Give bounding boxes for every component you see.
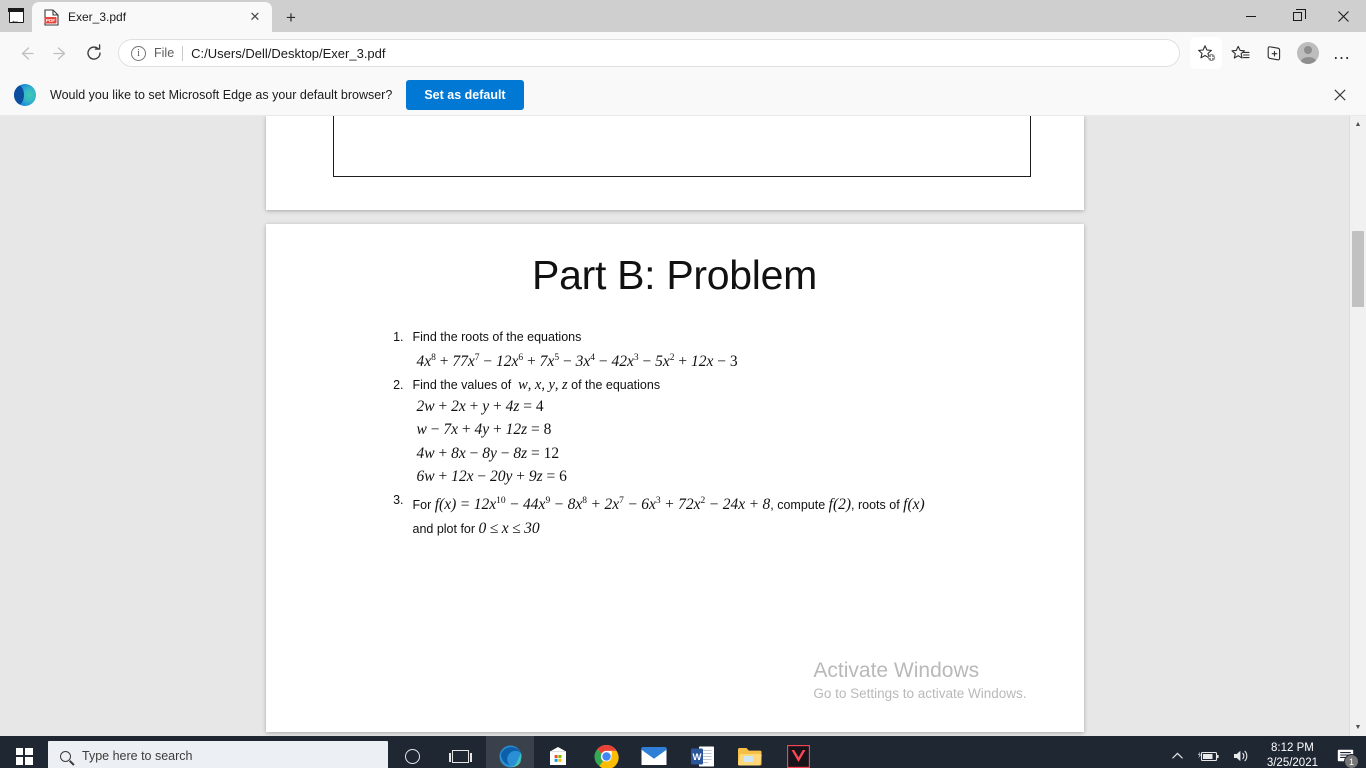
clock-time: 8:12 PM xyxy=(1271,741,1314,756)
search-input[interactable]: Type here to search xyxy=(48,741,388,768)
tab-actions-icon xyxy=(9,9,24,23)
forward-button[interactable] xyxy=(44,37,76,69)
tab-close-button[interactable]: ✕ xyxy=(244,6,266,28)
pdf-page-previous xyxy=(266,116,1084,210)
scroll-up-arrow[interactable]: ▲ xyxy=(1350,116,1366,133)
profile-avatar[interactable] xyxy=(1292,37,1324,69)
equation: 6w + 12x − 20y + 9z = 6 xyxy=(413,465,1084,489)
problem-number: 3. xyxy=(388,490,404,541)
minimize-button[interactable] xyxy=(1228,0,1274,32)
tab-actions-button[interactable] xyxy=(0,0,32,32)
svg-text:PDF: PDF xyxy=(46,18,55,23)
cortana-icon xyxy=(405,749,420,764)
watermark-title: Activate Windows xyxy=(813,658,1026,684)
notification-center-button[interactable]: 1 xyxy=(1328,736,1362,768)
system-tray: 8:12 PM 3/25/2021 1 xyxy=(1165,736,1366,768)
windows-logo-icon xyxy=(16,748,33,765)
taskbar-app-valorant[interactable] xyxy=(774,736,822,768)
svg-text:W: W xyxy=(692,752,701,763)
pdf-icon: PDF xyxy=(44,9,59,26)
equation: 4w + 8x − 8y − 8z = 12 xyxy=(413,442,1084,466)
cortana-button[interactable] xyxy=(388,736,436,768)
banner-message: Would you like to set Microsoft Edge as … xyxy=(50,88,392,102)
word-icon: W xyxy=(690,745,715,768)
favorites-icon[interactable] xyxy=(1224,37,1256,69)
scrollbar-thumb[interactable] xyxy=(1352,231,1364,307)
taskbar-clock[interactable]: 8:12 PM 3/25/2021 xyxy=(1257,736,1328,768)
tray-chevron-up-icon[interactable] xyxy=(1165,736,1190,768)
pdf-page-current: Part B: Problem 1. Find the roots of the… xyxy=(266,224,1084,732)
pdf-viewer: Part B: Problem 1. Find the roots of the… xyxy=(0,116,1366,736)
collections-icon[interactable] xyxy=(1258,37,1290,69)
list-item: 3. For f(x) = 12x10 − 44x9 − 8x8 + 2x7 −… xyxy=(388,490,1084,541)
problem-number: 2. xyxy=(388,375,404,489)
task-view-button[interactable] xyxy=(436,736,484,768)
omnibox-divider xyxy=(182,46,183,61)
default-browser-banner: Would you like to set Microsoft Edge as … xyxy=(0,74,1366,116)
problem-lead: For f(x) = 12x10 − 44x9 − 8x8 + 2x7 − 6x… xyxy=(413,490,1084,517)
back-button[interactable] xyxy=(10,37,42,69)
equation: 4x8 + 77x7 − 12x6 + 7x5 − 3x4 − 42x3 − 5… xyxy=(413,347,1084,374)
problem-lead-cont: and plot for 0 ≤ x ≤ 30 xyxy=(413,517,1084,541)
banner-close-button[interactable] xyxy=(1324,79,1356,111)
start-button[interactable] xyxy=(0,736,48,768)
taskbar-app-file-explorer[interactable] xyxy=(726,736,774,768)
task-view-icon xyxy=(452,750,469,763)
valorant-icon xyxy=(787,745,810,768)
address-bar[interactable]: i File C:/Users/Dell/Desktop/Exer_3.pdf xyxy=(118,39,1180,67)
new-tab-button[interactable]: + xyxy=(276,4,306,32)
browser-toolbar: i File C:/Users/Dell/Desktop/Exer_3.pdf … xyxy=(0,32,1366,74)
taskbar-app-edge[interactable] xyxy=(486,736,534,768)
browser-tab[interactable]: PDF Exer_3.pdf ✕ xyxy=(32,2,272,32)
browser-tab-strip: PDF Exer_3.pdf ✕ + xyxy=(0,0,1366,32)
previous-page-table-box xyxy=(333,116,1031,177)
problem-list: 1. Find the roots of the equations 4x8 +… xyxy=(266,327,1084,541)
page-title: Part B: Problem xyxy=(266,252,1084,299)
volume-icon[interactable] xyxy=(1226,736,1257,768)
taskbar-apps: W xyxy=(486,736,822,768)
mail-icon xyxy=(641,746,667,766)
settings-more-icon[interactable]: … xyxy=(1326,37,1358,69)
site-info-icon[interactable]: i xyxy=(131,46,146,61)
chrome-icon xyxy=(594,744,619,768)
vertical-scrollbar[interactable]: ▲ ▼ xyxy=(1349,116,1366,736)
watermark-subtitle: Go to Settings to activate Windows. xyxy=(813,684,1026,704)
edge-icon xyxy=(498,744,523,768)
avatar xyxy=(1297,42,1319,64)
pdf-scroll-area[interactable]: Part B: Problem 1. Find the roots of the… xyxy=(0,116,1349,736)
tab-title: Exer_3.pdf xyxy=(68,10,235,24)
problem-lead: Find the values of w, x, y, z of the equ… xyxy=(413,378,661,392)
notification-badge: 1 xyxy=(1344,754,1359,768)
search-placeholder: Type here to search xyxy=(82,749,192,763)
taskbar-app-mail[interactable] xyxy=(630,736,678,768)
search-icon xyxy=(60,751,71,762)
scroll-down-arrow[interactable]: ▼ xyxy=(1350,719,1366,736)
restore-button[interactable] xyxy=(1274,0,1320,32)
file-explorer-icon xyxy=(737,746,763,767)
more-dots: … xyxy=(1333,48,1352,58)
refresh-button[interactable] xyxy=(78,37,110,69)
add-favorite-icon[interactable] xyxy=(1190,37,1222,69)
window-controls xyxy=(1228,0,1366,32)
list-item: 1. Find the roots of the equations 4x8 +… xyxy=(388,327,1084,374)
problem-number: 1. xyxy=(388,327,404,374)
equation: w − 7x + 4y + 12z = 8 xyxy=(413,418,1084,442)
activate-windows-watermark: Activate Windows Go to Settings to activ… xyxy=(813,658,1026,704)
taskbar-app-word[interactable]: W xyxy=(678,736,726,768)
taskbar-app-store[interactable] xyxy=(534,736,582,768)
set-as-default-button[interactable]: Set as default xyxy=(406,80,523,110)
equation: 2w + 2x + y + 4z = 4 xyxy=(413,395,1084,419)
taskbar-app-chrome[interactable] xyxy=(582,736,630,768)
microsoft-store-icon xyxy=(546,744,570,768)
url-scheme-label: File xyxy=(154,46,174,60)
list-item: 2. Find the values of w, x, y, z of the … xyxy=(388,375,1084,489)
clock-date: 3/25/2021 xyxy=(1267,756,1318,768)
problem-lead: Find the roots of the equations xyxy=(413,330,582,344)
close-window-button[interactable] xyxy=(1320,0,1366,32)
windows-taskbar: Type here to search xyxy=(0,736,1366,768)
edge-logo-icon xyxy=(14,84,36,106)
battery-charging-icon[interactable] xyxy=(1190,736,1226,768)
url-text[interactable]: C:/Users/Dell/Desktop/Exer_3.pdf xyxy=(191,46,1173,61)
